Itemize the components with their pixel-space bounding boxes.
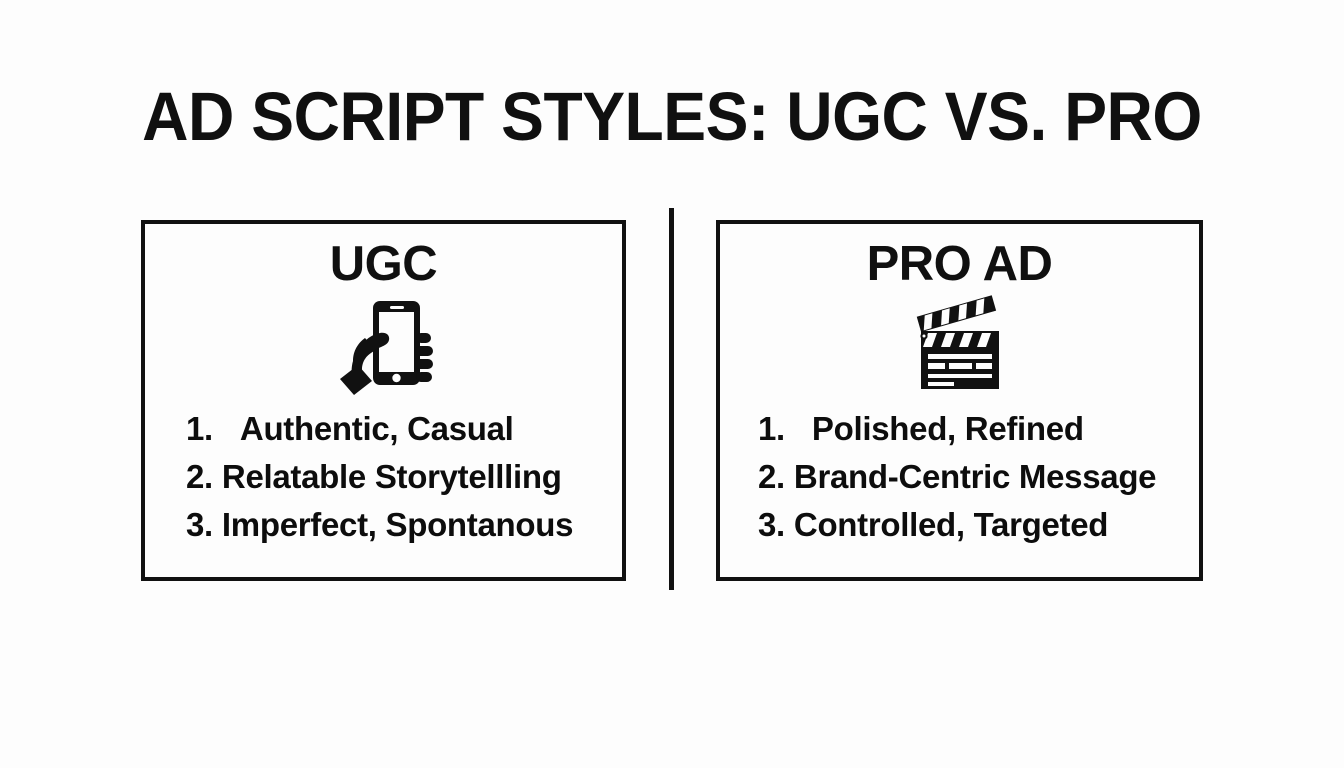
- list-item: 2. Relatable Storytellling: [186, 453, 622, 501]
- list-item: 3. Controlled, Targeted: [758, 501, 1199, 549]
- list-item-number: 3.: [758, 501, 785, 549]
- list-item-number: 1.: [758, 405, 785, 453]
- list-item-number: 2.: [186, 453, 213, 501]
- list-item-number: 3.: [186, 501, 213, 549]
- list-item-label: Relatable Storytellling: [222, 453, 562, 501]
- list-item-number: 1.: [186, 405, 213, 453]
- page-title: AD SCRIPT STYLES: UGC VS. PRO: [47, 82, 1297, 151]
- list-item-label: Controlled, Targeted: [794, 501, 1108, 549]
- panel-pro-ad: PRO AD: [716, 220, 1203, 581]
- panel-ugc-heading: UGC: [145, 240, 622, 289]
- list-item-number: 2.: [758, 453, 785, 501]
- list-item-label: Authentic, Casual: [240, 405, 514, 453]
- list-item-label: Polished, Refined: [812, 405, 1084, 453]
- pro-ad-item-list: 1. Polished, Refined 2. Brand-Centric Me…: [720, 405, 1199, 549]
- panel-pro-ad-heading: PRO AD: [720, 240, 1199, 289]
- clapperboard-icon: [720, 295, 1199, 399]
- list-item-label: Brand-Centric Message: [794, 453, 1156, 501]
- list-item: 3. Imperfect, Spontanous: [186, 501, 622, 549]
- ugc-item-list: 1. Authentic, Casual 2. Relatable Storyt…: [145, 405, 622, 549]
- list-item: 1. Polished, Refined: [758, 405, 1199, 453]
- hand-holding-smartphone-icon: [145, 295, 622, 399]
- list-item: 2. Brand-Centric Message: [758, 453, 1199, 501]
- panel-ugc: UGC: [141, 220, 626, 581]
- vertical-divider: [669, 208, 674, 590]
- slide-canvas: AD SCRIPT STYLES: UGC VS. PRO UGC: [0, 0, 1344, 768]
- list-item-label: Imperfect, Spontanous: [222, 501, 573, 549]
- list-item: 1. Authentic, Casual: [186, 405, 622, 453]
